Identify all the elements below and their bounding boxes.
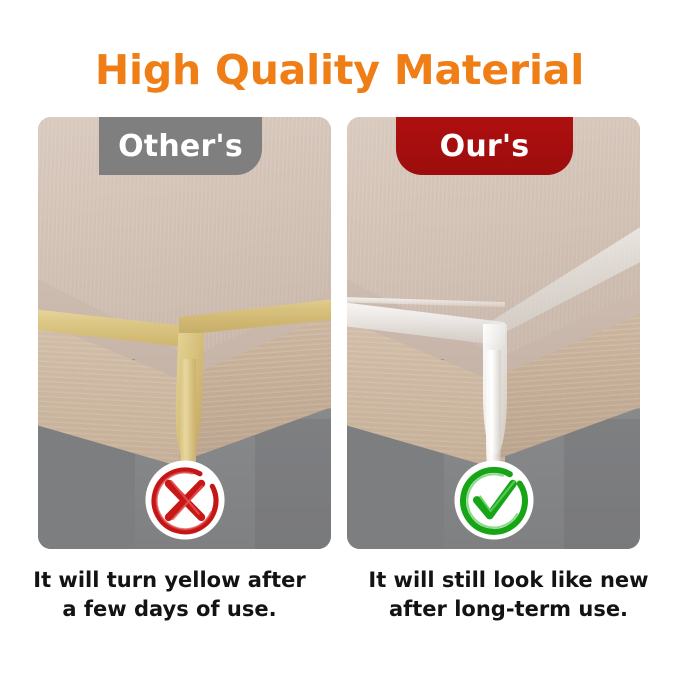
caption-ours-line2: after long-term use. [353,595,664,624]
caption-ours-line1: It will still look like new [368,568,648,592]
page-title: High Quality Material [0,46,679,94]
caption-others: It will turn yellow after a few days of … [0,566,339,624]
comparison-panel-others: Other's [38,117,331,549]
captions-row: It will turn yellow after a few days of … [0,566,679,624]
badge-others: Other's [99,117,262,175]
red-x-icon [142,457,228,543]
comparison-panel-ours: Our's [347,117,640,549]
photo-floor-wedge [564,419,640,549]
comparison-panels: Other's [38,117,641,549]
caption-others-line1: It will turn yellow after [33,568,306,592]
green-check-icon [451,457,537,543]
caption-others-line2: a few days of use. [14,595,325,624]
badge-ours: Our's [396,117,573,175]
caption-ours: It will still look like new after long-t… [339,566,678,624]
photo-floor-wedge [255,419,331,549]
